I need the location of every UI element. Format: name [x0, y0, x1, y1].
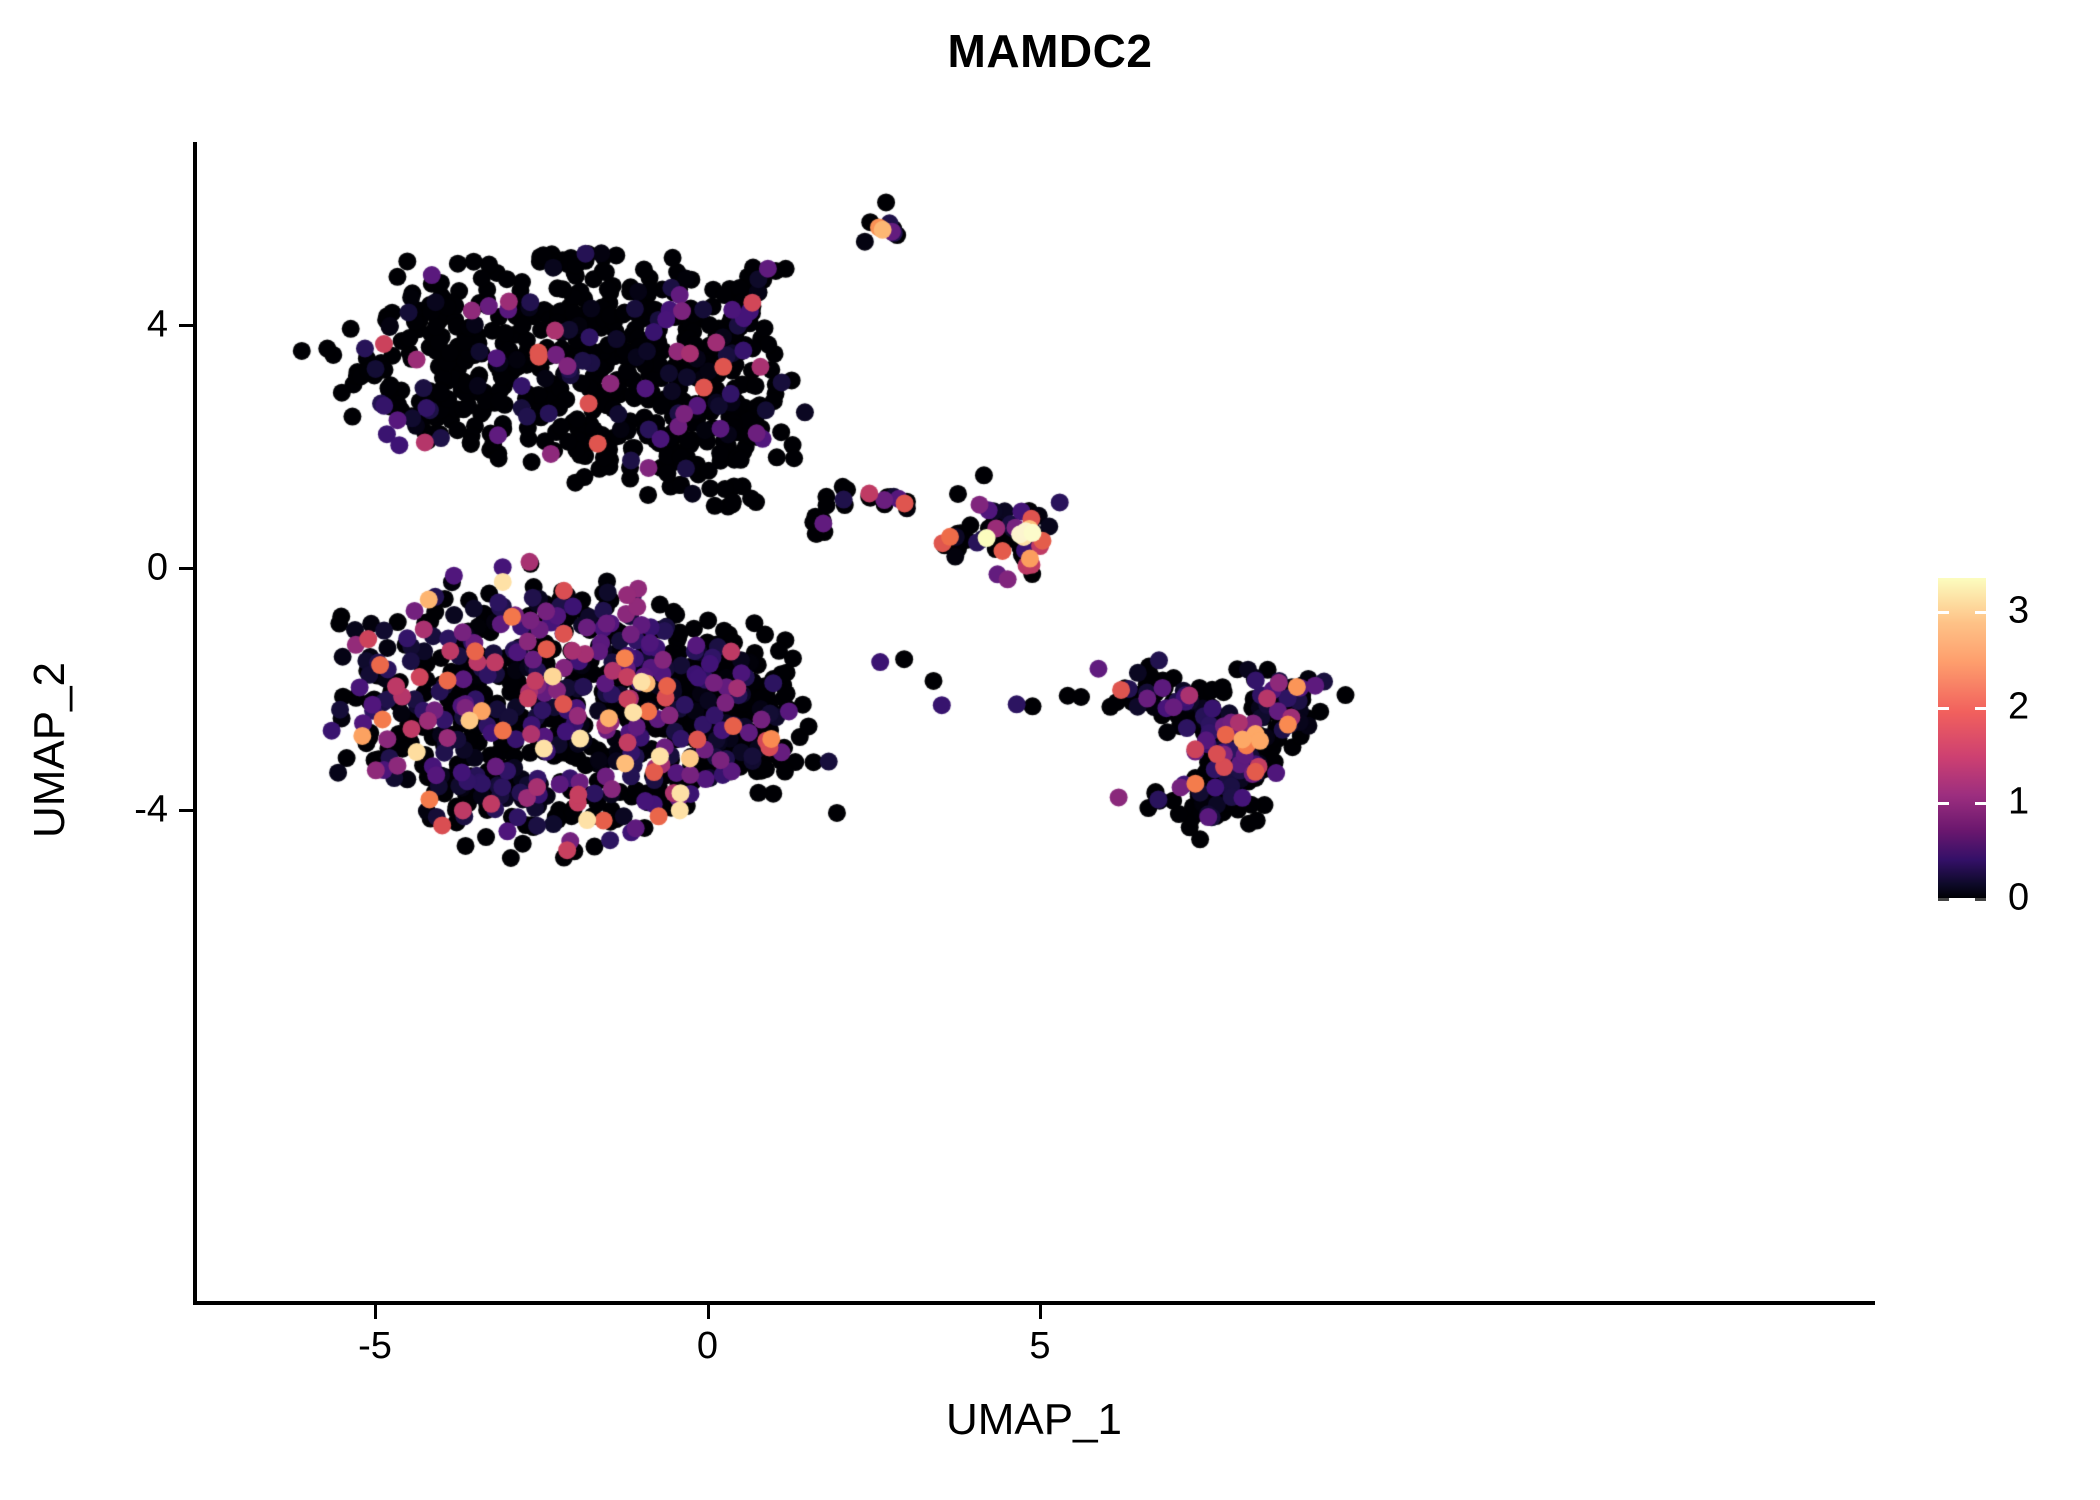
- colorbar-tick-label: 3: [2008, 590, 2029, 633]
- colorbar-tick-label: 1: [2008, 781, 2029, 824]
- colorbar-legend: 3210: [1930, 560, 2090, 920]
- colorbar-tick-mark: [1975, 707, 1986, 710]
- colorbar-tick-label: 2: [2008, 685, 2029, 728]
- colorbar-gradient: [1938, 578, 1986, 898]
- colorbar-tick-mark: [1975, 802, 1986, 805]
- colorbar-tick-mark: [1938, 898, 1949, 901]
- colorbar-tick-mark: [1975, 611, 1986, 614]
- colorbar-tick-label: 0: [2008, 877, 2029, 920]
- colorbar-tick-mark: [1938, 707, 1949, 710]
- colorbar-tick-mark: [1938, 611, 1949, 614]
- scatter-plot-canvas: [0, 0, 2100, 1500]
- colorbar-tick-mark: [1938, 802, 1949, 805]
- colorbar-tick-mark: [1975, 898, 1986, 901]
